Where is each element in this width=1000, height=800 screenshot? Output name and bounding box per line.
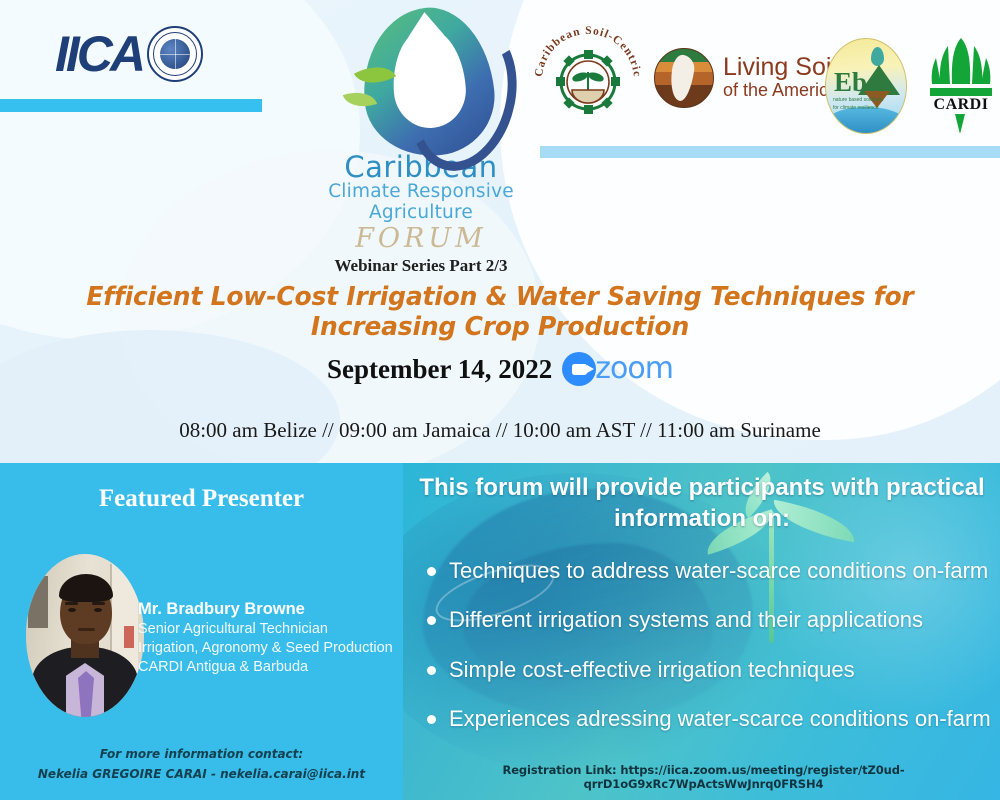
- eba-tagline-line2: for climate resilience: [833, 105, 883, 113]
- list-item: Different irrigation systems and their a…: [415, 607, 1000, 633]
- caribbean-soil-centric-actions-logo: Caribbean Soil-Centric Actions: [532, 24, 644, 136]
- info-panel: This forum will provide participants wit…: [403, 463, 1000, 800]
- event-date-row: September 14, 2022 zoom: [0, 352, 1000, 386]
- contact-label: For more information contact:: [0, 745, 403, 765]
- iica-logo: IICA: [55, 26, 203, 82]
- globe-icon: [160, 39, 190, 69]
- eba-mountain-water-icon: EbA nature based solutions for climate r…: [825, 38, 907, 134]
- list-item-label: Experiences adressing water-scarce condi…: [449, 706, 991, 731]
- water-drop-leaf-icon: [341, 8, 501, 156]
- webinar-series-label: Webinar Series Part 2/3: [276, 256, 566, 276]
- bullet-icon: [427, 666, 436, 675]
- gear-sprout-icon: Caribbean Soil-Centric Actions: [532, 24, 644, 136]
- eba-tagline-line1: nature based solutions: [833, 97, 883, 105]
- list-item: Experiences adressing water-scarce condi…: [415, 706, 1000, 732]
- list-item: Simple cost-effective irrigation techniq…: [415, 657, 1000, 683]
- divider-bar-left: [0, 99, 262, 112]
- cardi-leaf-icon: [928, 36, 994, 92]
- list-item-label: Techniques to address water-scarce condi…: [449, 558, 988, 583]
- living-soils-of-the-americas-logo: Living Soils of the Americas: [654, 48, 849, 108]
- registration-link[interactable]: Registration Link: https://iica.zoom.us/…: [411, 763, 996, 791]
- cardi-wordmark: CARDI: [932, 96, 990, 114]
- presenter-organization: CARDI Antigua & Barbuda: [138, 658, 400, 677]
- presenter-panel: Featured Presenter Mr. Bradbury Browne S…: [0, 463, 403, 800]
- list-item: Techniques to address water-scarce condi…: [415, 558, 1000, 584]
- list-item-label: Different irrigation systems and their a…: [449, 607, 923, 632]
- presenter-details: Mr. Bradbury Browne Senior Agricultural …: [138, 599, 400, 677]
- zoom-logo: zoom: [562, 352, 673, 386]
- info-panel-heading: This forum will provide participants wit…: [417, 473, 987, 534]
- contact-block: For more information contact: Nekelia GR…: [0, 745, 403, 785]
- event-date: September 14, 2022: [327, 354, 552, 385]
- bullet-icon: [427, 567, 436, 576]
- presenter-name: Mr. Bradbury Browne: [138, 599, 400, 620]
- cardi-logo: CARDI: [928, 36, 994, 136]
- timezone-line: 08:00 am Belize // 09:00 am Jamaica // 1…: [0, 418, 1000, 443]
- divider-bar-right: [540, 146, 1000, 158]
- forum-logo-line2: Climate Responsive Agriculture: [276, 182, 566, 223]
- contact-person[interactable]: Nekelia GREGOIRE CARAI - nekelia.carai@i…: [0, 765, 403, 785]
- globe-seal-icon: [147, 26, 203, 82]
- forum-logo-line3: FORUM: [276, 223, 566, 254]
- zoom-camera-icon: [562, 352, 596, 386]
- soil-layers-americas-icon: [654, 48, 714, 108]
- list-item-label: Simple cost-effective irrigation techniq…: [449, 657, 855, 682]
- eba-wordmark: EbA: [834, 69, 887, 96]
- webinar-flyer: IICA Caribbean Climate Responsive Agricu…: [0, 0, 1000, 800]
- partner-logos: Caribbean Soil-Centric Actions: [530, 18, 1000, 140]
- forum-logo: Caribbean Climate Responsive Agriculture…: [276, 8, 566, 276]
- iica-wordmark: IICA: [55, 29, 143, 79]
- bullet-icon: [427, 616, 436, 625]
- presenter-avatar: [26, 554, 144, 717]
- forum-logo-line1: Caribbean: [276, 152, 566, 182]
- bullet-icon: [427, 715, 436, 724]
- presenter-role: Senior Agricultural Technician: [138, 620, 400, 639]
- presenter-specialty: Irrigation, Agronomy & Seed Production: [138, 639, 400, 658]
- zoom-wordmark: zoom: [595, 354, 673, 384]
- featured-presenter-heading: Featured Presenter: [0, 485, 403, 513]
- info-bullet-list: Techniques to address water-scarce condi…: [415, 558, 1000, 756]
- page-title: Efficient Low-Cost Irrigation & Water Sa…: [10, 282, 990, 342]
- eba-logo: EbA nature based solutions for climate r…: [825, 38, 907, 134]
